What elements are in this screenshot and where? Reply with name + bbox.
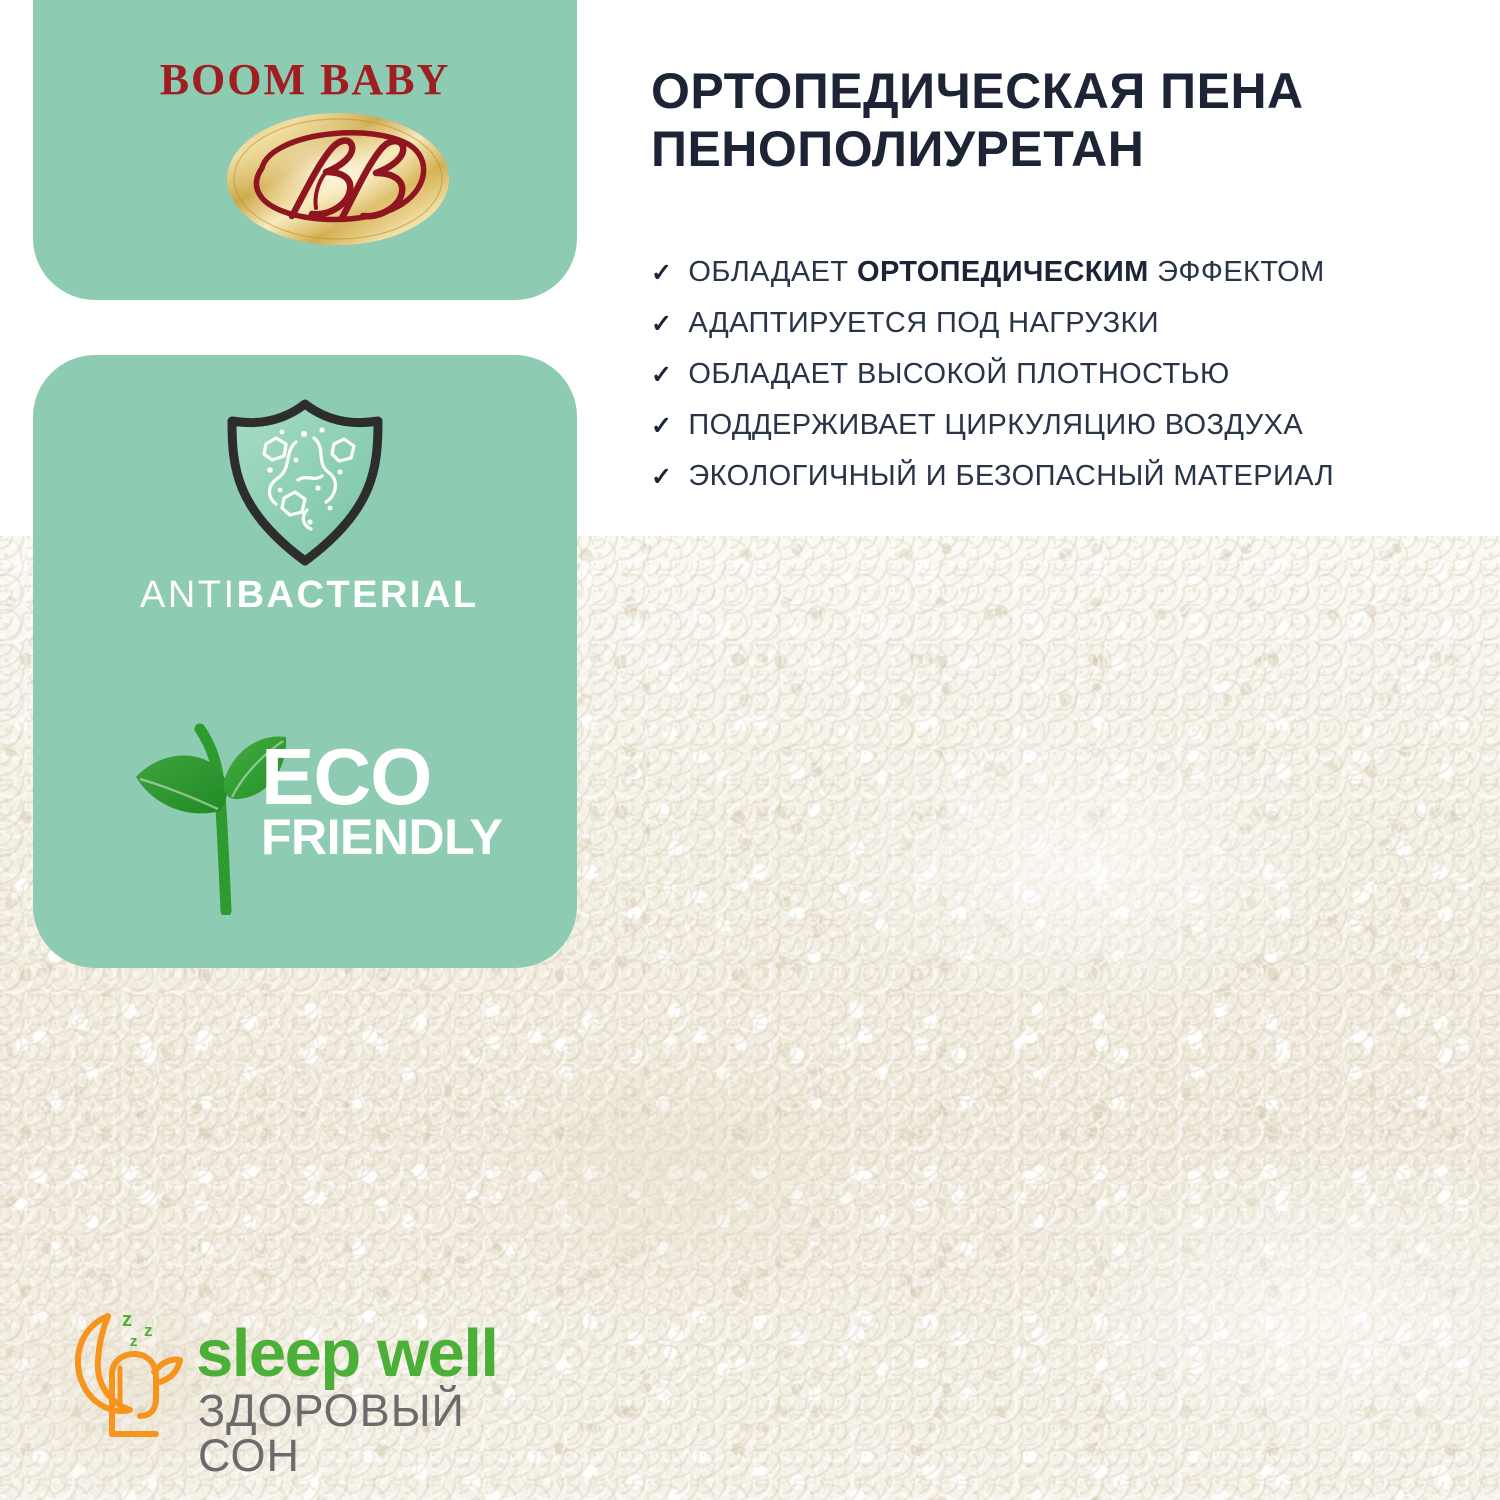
eco-label-line1: ECO [261, 743, 491, 812]
list-item: ✓ ОБЛАДАЕТ ВЫСОКОЙ ПЛОТНОСТЬЮ [651, 360, 1441, 389]
list-item: ✓ АДАПТИРУЕТСЯ ПОД НАГРУЗКИ [651, 309, 1441, 338]
brand-name: BOOM BABY [33, 58, 577, 102]
antibacterial-label-anti: ANTI [140, 574, 237, 616]
list-item: ✓ ОБЛАДАЕТ ОРТОПЕДИЧЕСКИМ ЭФФЕКТОМ [651, 258, 1441, 287]
feature-text-2: ОБЛАДАЕТ ВЫСОКОЙ ПЛОТНОСТЬЮ [688, 360, 1229, 389]
feature-text-1: АДАПТИРУЕТСЯ ПОД НАГРУЗКИ [688, 309, 1159, 338]
feature-text-3: ПОДДЕРЖИВАЕТ ЦИРКУЛЯЦИЮ ВОЗДУХА [688, 411, 1303, 440]
sleep-well-logo: z z z sleep well ЗДОРОВЫЙ СОН [68, 1306, 568, 1476]
svg-text:z: z [144, 1321, 153, 1340]
brand-lockup: BOOM BABY [33, 0, 577, 300]
list-item: ✓ ПОДДЕРЖИВАЕТ ЦИРКУЛЯЦИЮ ВОЗДУХА [651, 411, 1441, 440]
svg-text:z: z [122, 1309, 132, 1331]
eco-label-line2: FRIENDLY [261, 812, 491, 862]
check-icon: ✓ [651, 312, 672, 337]
svg-text:z: z [130, 1333, 138, 1350]
antibacterial-label: ANTIBACTERIAL [140, 576, 470, 614]
gold-oval-monogram-icon [226, 112, 451, 247]
check-icon: ✓ [651, 414, 672, 439]
page-title-line2: ПЕНОПОЛИУРЕТАН [651, 120, 1451, 178]
check-icon: ✓ [651, 465, 672, 490]
eco-friendly-badge: ECO FRIENDLY [128, 715, 488, 915]
sleeping-cat-moon-icon: z z z [68, 1306, 190, 1456]
antibacterial-label-bacterial: BACTERIAL [237, 574, 479, 616]
antibacterial-badge: ANTIBACTERIAL [150, 398, 460, 638]
list-item: ✓ ЭКОЛОГИЧНЫЙ И БЕЗОПАСНЫЙ МАТЕРИАЛ [651, 462, 1441, 491]
eco-friendly-label: ECO FRIENDLY [261, 743, 491, 862]
sleep-well-subtitle: ЗДОРОВЫЙ СОН [198, 1388, 568, 1478]
page-title: ОРТОПЕДИЧЕСКАЯ ПЕНА ПЕНОПОЛИУРЕТАН [651, 62, 1451, 178]
shield-sparkle-icon [210, 398, 400, 568]
feature-list: ✓ ОБЛАДАЕТ ОРТОПЕДИЧЕСКИМ ЭФФЕКТОМ ✓ АДА… [651, 258, 1441, 513]
feature-text-4: ЭКОЛОГИЧНЫЙ И БЕЗОПАСНЫЙ МАТЕРИАЛ [688, 462, 1334, 491]
check-icon: ✓ [651, 261, 672, 286]
feature-text-0: ОБЛАДАЕТ ОРТОПЕДИЧЕСКИМ ЭФФЕКТОМ [688, 258, 1324, 287]
sleep-well-title: sleep well [196, 1320, 498, 1387]
product-infographic: BOOM BABY [0, 0, 1500, 1500]
check-icon: ✓ [651, 363, 672, 388]
page-title-line1: ОРТОПЕДИЧЕСКАЯ ПЕНА [651, 62, 1451, 120]
